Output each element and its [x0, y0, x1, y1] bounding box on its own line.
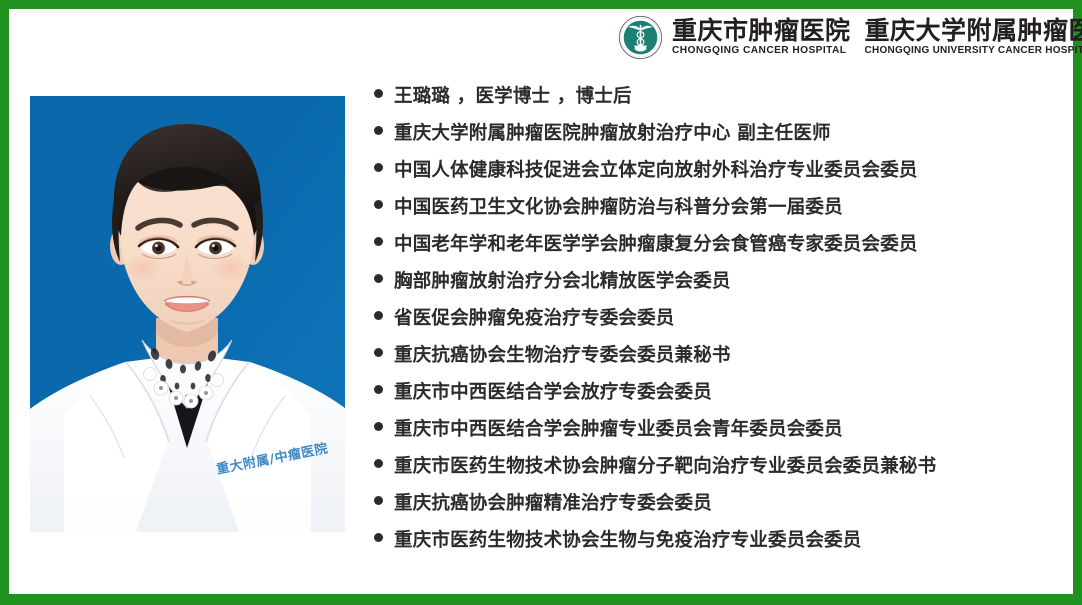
slide-canvas: 重庆市肿瘤医院 CHONGQING CANCER HOSPITAL 重庆大学附属… — [0, 0, 1082, 605]
list-item: 重庆抗癌协会生物治疗专委会委员兼秘书 — [374, 347, 1064, 384]
list-item-label: 中国老年学和老年医学学会肿瘤康复分会食管癌专家委员会委员 — [394, 236, 918, 255]
list-item-label: 重庆抗癌协会生物治疗专委会委员兼秘书 — [394, 347, 731, 366]
list-item-label: 重庆大学附属肿瘤医院肿瘤放射治疗中心 副主任医师 — [394, 125, 831, 144]
list-item: 胸部肿瘤放射治疗分会北精放医学会委员 — [374, 273, 1064, 310]
bullet-dot-icon — [374, 200, 394, 209]
list-item: 重庆市医药生物技术协会生物与免疫治疗专业委员会委员 — [374, 532, 1064, 569]
slide-border-top — [0, 0, 1082, 9]
hospital-names-group: 重庆市肿瘤医院 CHONGQING CANCER HOSPITAL 重庆大学附属… — [672, 18, 1082, 56]
bullet-dot-icon — [374, 274, 394, 283]
list-item-label: 王璐璐 ，医学博士 ，博士后 — [394, 88, 632, 107]
slide-border-left — [0, 0, 9, 605]
hospital-name-cn: 重庆大学附属肿瘤医院 — [865, 18, 1082, 44]
bullet-dot-icon — [374, 496, 394, 505]
bullet-dot-icon — [374, 348, 394, 357]
list-item-label: 重庆市医药生物技术协会肿瘤分子靶向治疗专业委员会委员兼秘书 — [394, 458, 936, 477]
doctor-portrait-photo: 重大附属/中瘤医院 — [30, 96, 345, 532]
list-item-label: 重庆抗癌协会肿瘤精准治疗专委会委员 — [394, 495, 712, 514]
hospital-name-cn: 重庆市肿瘤医院 — [672, 18, 851, 44]
list-item-label: 中国医药卫生文化协会肿瘤防治与科普分会第一届委员 — [394, 199, 843, 218]
doctor-credentials-list: 王璐璐 ，医学博士 ，博士后 重庆大学附属肿瘤医院肿瘤放射治疗中心 副主任医师 … — [374, 88, 1064, 569]
list-item-label: 重庆市中西医结合学会肿瘤专业委员会青年委员会委员 — [394, 421, 843, 440]
list-item: 重庆大学附属肿瘤医院肿瘤放射治疗中心 副主任医师 — [374, 125, 1064, 162]
hospital-caduceus-emblem-icon — [618, 15, 663, 60]
list-item: 重庆市中西医结合学会放疗专委会委员 — [374, 384, 1064, 421]
hospital-logo-lockup: 重庆市肿瘤医院 CHONGQING CANCER HOSPITAL 重庆大学附属… — [618, 12, 1082, 62]
list-item: 中国人体健康科技促进会立体定向放射外科治疗专业委员会委员 — [374, 162, 1064, 199]
list-item: 中国医药卫生文化协会肿瘤防治与科普分会第一届委员 — [374, 199, 1064, 236]
list-item-label: 重庆市中西医结合学会放疗专委会委员 — [394, 384, 712, 403]
bullet-dot-icon — [374, 237, 394, 246]
bullet-dot-icon — [374, 163, 394, 172]
hospital-name-en: CHONGQING UNIVERSITY CANCER HOSPITAL — [865, 45, 1082, 56]
bullet-dot-icon — [374, 311, 394, 320]
list-item: 省医促会肿瘤免疫治疗专委会委员 — [374, 310, 1064, 347]
bullet-dot-icon — [374, 459, 394, 468]
hospital-name-en: CHONGQING CANCER HOSPITAL — [672, 45, 846, 56]
slide-border-right — [1073, 0, 1082, 605]
list-item: 王璐璐 ，医学博士 ，博士后 — [374, 88, 1064, 125]
slide-border-bottom — [0, 594, 1082, 605]
bullet-dot-icon — [374, 533, 394, 542]
list-item: 中国老年学和老年医学学会肿瘤康复分会食管癌专家委员会委员 — [374, 236, 1064, 273]
bullet-dot-icon — [374, 126, 394, 135]
bullet-dot-icon — [374, 422, 394, 431]
list-item-label: 省医促会肿瘤免疫治疗专委会委员 — [394, 310, 675, 329]
list-item: 重庆市医药生物技术协会肿瘤分子靶向治疗专业委员会委员兼秘书 — [374, 458, 1064, 495]
list-item-label: 胸部肿瘤放射治疗分会北精放医学会委员 — [394, 273, 731, 292]
list-item: 重庆抗癌协会肿瘤精准治疗专委会委员 — [374, 495, 1064, 532]
bullet-dot-icon — [374, 385, 394, 394]
list-item-label: 中国人体健康科技促进会立体定向放射外科治疗专业委员会委员 — [394, 162, 918, 181]
list-item: 重庆市中西医结合学会肿瘤专业委员会青年委员会委员 — [374, 421, 1064, 458]
bullet-dot-icon — [374, 89, 394, 98]
list-item-label: 重庆市医药生物技术协会生物与免疫治疗专业委员会委员 — [394, 532, 862, 551]
hospital-name-secondary: 重庆大学附属肿瘤医院 CHONGQING UNIVERSITY CANCER H… — [865, 18, 1082, 56]
hospital-name-primary: 重庆市肿瘤医院 CHONGQING CANCER HOSPITAL — [672, 18, 851, 56]
